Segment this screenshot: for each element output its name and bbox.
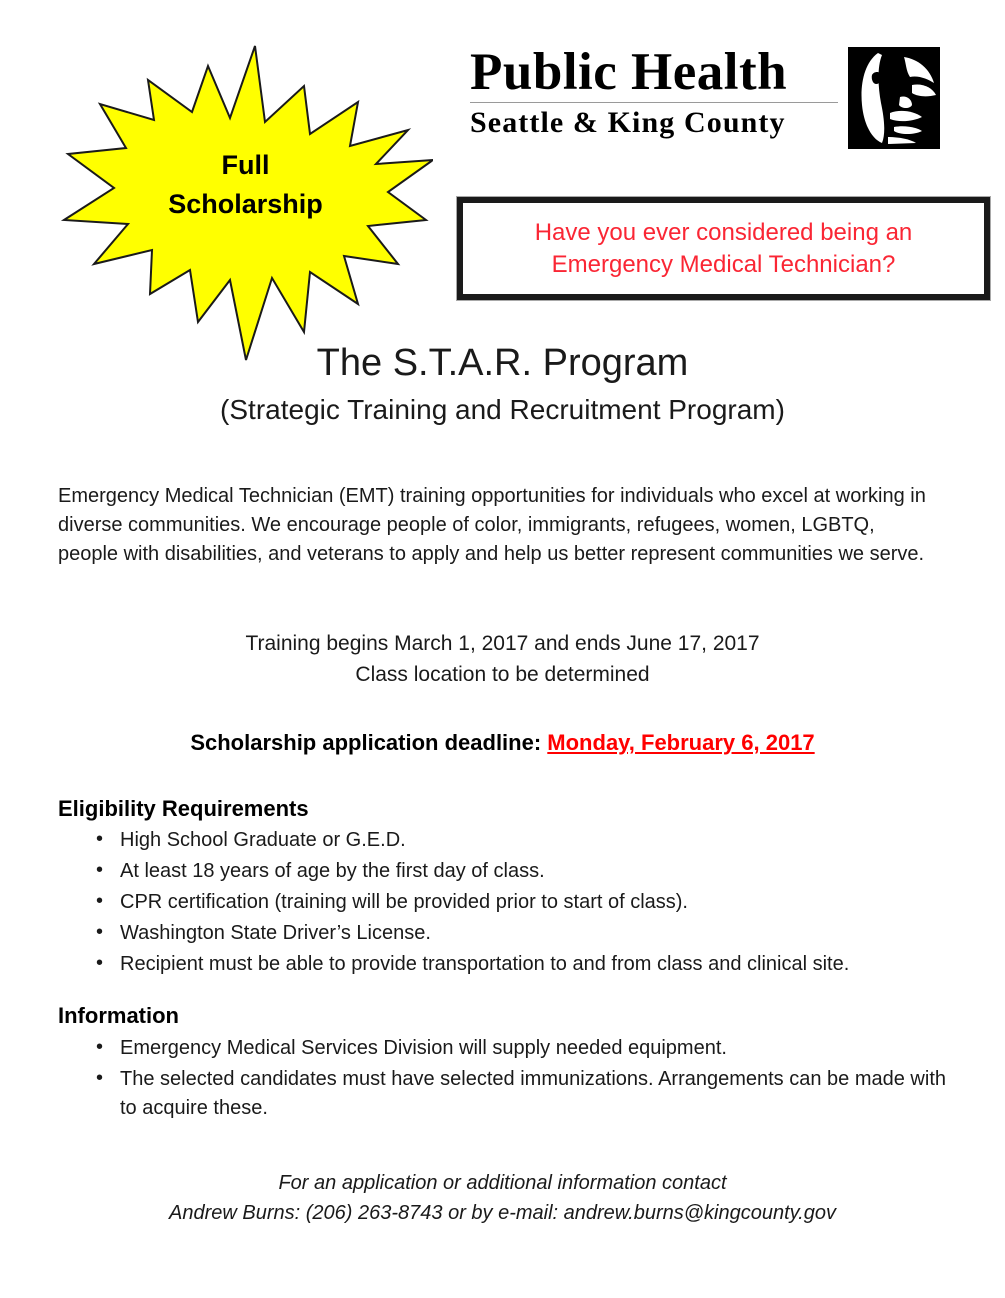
deadline-date: Monday, February 6, 2017 [547,730,814,755]
list-item: High School Graduate or G.E.D. [58,826,948,855]
deadline-label: Scholarship application deadline: [190,730,541,755]
page-subtitle: (Strategic Training and Recruitment Prog… [0,392,1005,428]
list-item: Emergency Medical Services Division will… [58,1034,948,1063]
list-item: The selected candidates must have select… [58,1065,948,1123]
question-callout-inner: Have you ever considered being an Emerge… [462,202,985,295]
question-line2: Emergency Medical Technician? [552,249,896,281]
training-dates: Training begins March 1, 2017 and ends J… [0,628,1005,690]
page-title: The S.T.A.R. Program [0,340,1005,386]
question-callout-box: Have you ever considered being an Emerge… [457,197,990,300]
logo-divider [470,102,838,103]
contact-footer-line2: Andrew Burns: (206) 263-8743 or by e-mai… [0,1198,1005,1228]
list-item: CPR certification (training will be prov… [58,888,948,917]
logo-title-line1: Public Health [470,44,842,100]
application-deadline: Scholarship application deadline: Monday… [0,728,1005,758]
logo-title-line2: Seattle & King County [470,106,842,140]
public-health-face-icon [848,47,940,149]
question-line1: Have you ever considered being an [535,217,913,249]
contact-footer-line1: For an application or additional informa… [0,1168,1005,1198]
intro-paragraph: Emergency Medical Technician (EMT) train… [58,482,938,569]
information-list: Emergency Medical Services Division will… [58,1034,948,1125]
information-heading: Information [58,1002,179,1030]
training-location-line: Class location to be determined [0,659,1005,690]
training-dates-line1: Training begins March 1, 2017 and ends J… [0,628,1005,659]
contact-footer: For an application or additional informa… [0,1168,1005,1228]
list-item: Recipient must be able to provide transp… [58,950,948,979]
eligibility-list: High School Graduate or G.E.D. At least … [58,826,948,981]
eligibility-heading: Eligibility Requirements [58,795,309,823]
list-item: At least 18 years of age by the first da… [58,857,948,886]
logo-wordmark: Public Health Seattle & King County [470,44,842,140]
full-scholarship-starburst: Full Scholarship [58,42,433,382]
list-item: Washington State Driver’s License. [58,919,948,948]
